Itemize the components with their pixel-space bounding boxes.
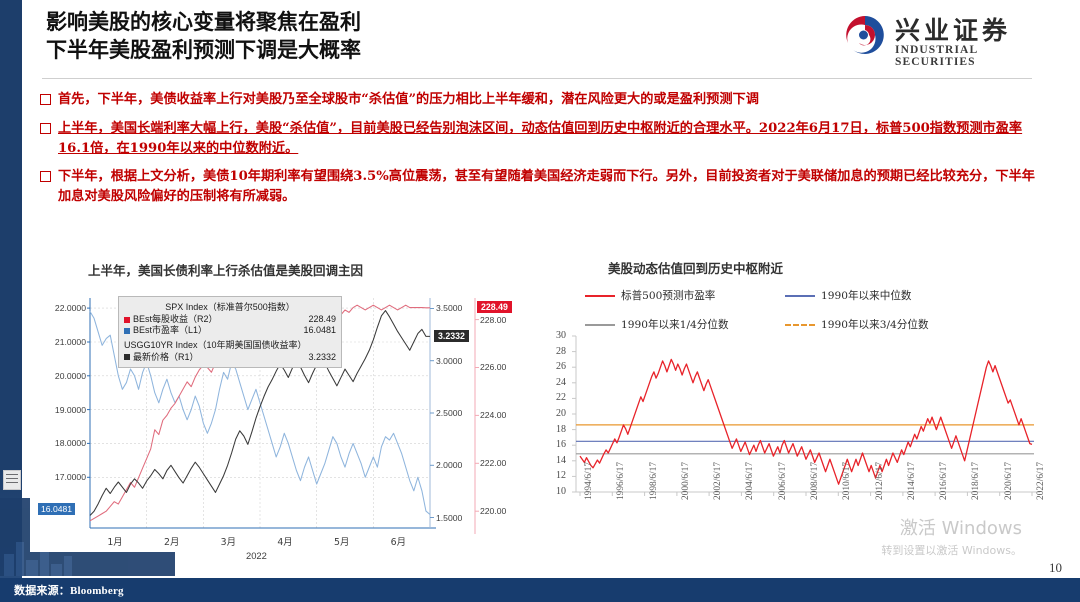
x-axis-tick: 2006/6/17 [778, 462, 788, 500]
r2-axis-current-value-badge: 228.49 [477, 301, 512, 313]
footer-bar: 数据来源：Bloomberg [0, 578, 1080, 602]
x-axis-tick: 2004/6/17 [745, 462, 755, 500]
bullet-square-icon [40, 171, 51, 182]
r1-axis-tick: 3.5000 [436, 303, 462, 313]
legend-header: SPX Index（标准普尔500指数） [124, 300, 336, 313]
r2-axis-tick: 226.00 [480, 362, 506, 372]
left-axis-tick: 19.0000 [36, 405, 86, 415]
page-title: 影响美股的核心变量将聚焦在盈利 下半年美股盈利预测下调是大概率 [46, 8, 826, 64]
legend-label: 最新价格（R1） [133, 352, 199, 363]
right-chart-canvas [540, 280, 1055, 570]
bullet-text: 下半年，根据上文分析，美债10年期利率有望围绕3.5%高位震荡，甚至有望随着美国… [58, 167, 1040, 207]
r1-axis-tick: 3.0000 [436, 356, 462, 366]
bullet-item: 下半年，根据上文分析，美债10年期利率有望围绕3.5%高位震荡，甚至有望随着美国… [40, 167, 1040, 207]
menu-icon[interactable] [3, 470, 21, 490]
legend-label: BEst市盈率（L1） [133, 325, 207, 336]
r2-axis-tick: 224.00 [480, 410, 506, 420]
page-number: 10 [1049, 560, 1062, 576]
r1-axis-tick: 2.0000 [436, 460, 462, 470]
x-axis-tick: 2020/6/17 [1004, 462, 1014, 500]
x-axis-year-label: 2022 [246, 550, 267, 561]
legend-swatch-red [124, 317, 130, 323]
y-axis-tick: 20 [548, 408, 566, 419]
legend-header-2: USGG10YR Index（10年期美国国债收益率） [124, 338, 336, 351]
right-chart: 标普500预测市盈率 1990年以来中位数 1990年以来1/4分位数 1990… [540, 280, 1055, 570]
logo-english-name: INDUSTRIAL SECURITIES [895, 44, 1058, 68]
brand-logo: 兴业证券 INDUSTRIAL SECURITIES [843, 9, 1058, 65]
x-axis-tick: 1月 [107, 534, 122, 548]
x-axis-tick: 6月 [391, 534, 406, 548]
x-axis-tick: 2008/6/17 [810, 462, 820, 500]
left-axis-tick: 22.0000 [36, 303, 86, 313]
r2-axis-tick: 222.00 [480, 458, 506, 468]
bullet-square-icon [40, 94, 51, 105]
legend-row-yield: 最新价格（R1） 3.2332 [124, 352, 336, 363]
y-axis-tick: 14 [548, 455, 566, 466]
y-axis-tick: 22 [548, 392, 566, 403]
legend-value: 3.2332 [308, 352, 336, 363]
bullet-square-icon [40, 123, 51, 134]
y-axis-tick: 12 [548, 470, 566, 481]
y-axis-tick: 30 [548, 330, 566, 341]
right-chart-title: 美股动态估值回到历史中枢附近 [608, 258, 783, 277]
left-axis-tick: 18.0000 [36, 438, 86, 448]
logo-swirl-icon [843, 13, 887, 57]
x-axis-tick: 3月 [221, 534, 236, 548]
r1-axis-current-value-badge: 3.2332 [434, 330, 469, 342]
left-axis-current-value-badge: 16.0481 [38, 503, 75, 515]
r2-axis-tick: 228.00 [480, 315, 506, 325]
title-divider [42, 78, 1032, 79]
x-axis-tick: 4月 [277, 534, 292, 548]
legend-value: 16.0481 [303, 325, 336, 336]
page-title-line-1: 影响美股的核心变量将聚焦在盈利 [46, 8, 826, 36]
legend-label: BEst每股收益（R2） [133, 314, 218, 325]
y-axis-tick: 16 [548, 439, 566, 450]
data-source-label: 数据来源：Bloomberg [14, 582, 124, 598]
x-axis-tick: 2014/6/17 [907, 462, 917, 500]
x-axis-tick: 2010/6/17 [842, 462, 852, 500]
x-axis-tick: 2012/6/17 [875, 462, 885, 500]
y-axis-tick: 24 [548, 377, 566, 388]
slide-page: 影响美股的核心变量将聚焦在盈利 下半年美股盈利预测下调是大概率 兴业证券 IND… [0, 0, 1080, 602]
x-axis-tick: 5月 [334, 534, 349, 548]
y-axis-tick: 10 [548, 486, 566, 497]
x-axis-tick: 2月 [164, 534, 179, 548]
x-axis-tick: 2002/6/17 [713, 462, 723, 500]
y-axis-tick: 26 [548, 361, 566, 372]
y-axis-tick: 18 [548, 424, 566, 435]
legend-swatch-blue [124, 328, 130, 334]
r1-axis-tick: 2.5000 [436, 408, 462, 418]
x-axis-tick: 1996/6/17 [616, 462, 626, 500]
page-title-line-2: 下半年美股盈利预测下调是大概率 [46, 36, 826, 64]
left-chart-title: 上半年，美国长债利率上行杀估值是美股回调主因 [88, 260, 363, 279]
r1-axis-tick: 1.5000 [436, 513, 462, 523]
y-axis-tick: 28 [548, 346, 566, 357]
left-chart: SPX Index（标准普尔500指数） BEst每股收益（R2） 228.49… [30, 290, 500, 552]
x-axis-tick: 2018/6/17 [971, 462, 981, 500]
x-axis-tick: 2000/6/17 [681, 462, 691, 500]
x-axis-tick: 1998/6/17 [649, 462, 659, 500]
left-chart-legend: SPX Index（标准普尔500指数） BEst每股收益（R2） 228.49… [118, 296, 342, 368]
x-axis-tick: 2016/6/17 [939, 462, 949, 500]
legend-value: 228.49 [308, 314, 336, 325]
left-axis-tick: 20.0000 [36, 371, 86, 381]
bullet-list: 首先，下半年，美债收益率上行对美股乃至全球股市“杀估值”的压力相比上半年缓和，潜… [40, 90, 1040, 216]
left-axis-tick: 17.0000 [36, 472, 86, 482]
bullet-text: 上半年，美国长端利率大幅上行，美股“杀估值”，目前美股已经告别泡沫区间，动态估值… [58, 119, 1040, 159]
bullet-item: 上半年，美国长端利率大幅上行，美股“杀估值”，目前美股已经告别泡沫区间，动态估值… [40, 119, 1040, 159]
x-axis-tick: 1994/6/17 [584, 462, 594, 500]
logo-chinese-name: 兴业证券 [895, 11, 1011, 47]
x-axis-tick: 2022/6/17 [1036, 462, 1046, 500]
bullet-text: 首先，下半年，美债收益率上行对美股乃至全球股市“杀估值”的压力相比上半年缓和，潜… [58, 90, 759, 110]
bullet-item: 首先，下半年，美债收益率上行对美股乃至全球股市“杀估值”的压力相比上半年缓和，潜… [40, 90, 1040, 110]
legend-row-pe: BEst市盈率（L1） 16.0481 [124, 325, 336, 336]
r2-axis-tick: 220.00 [480, 506, 506, 516]
left-axis-tick: 21.0000 [36, 337, 86, 347]
legend-swatch-black [124, 354, 130, 360]
legend-row-eps: BEst每股收益（R2） 228.49 [124, 314, 336, 325]
